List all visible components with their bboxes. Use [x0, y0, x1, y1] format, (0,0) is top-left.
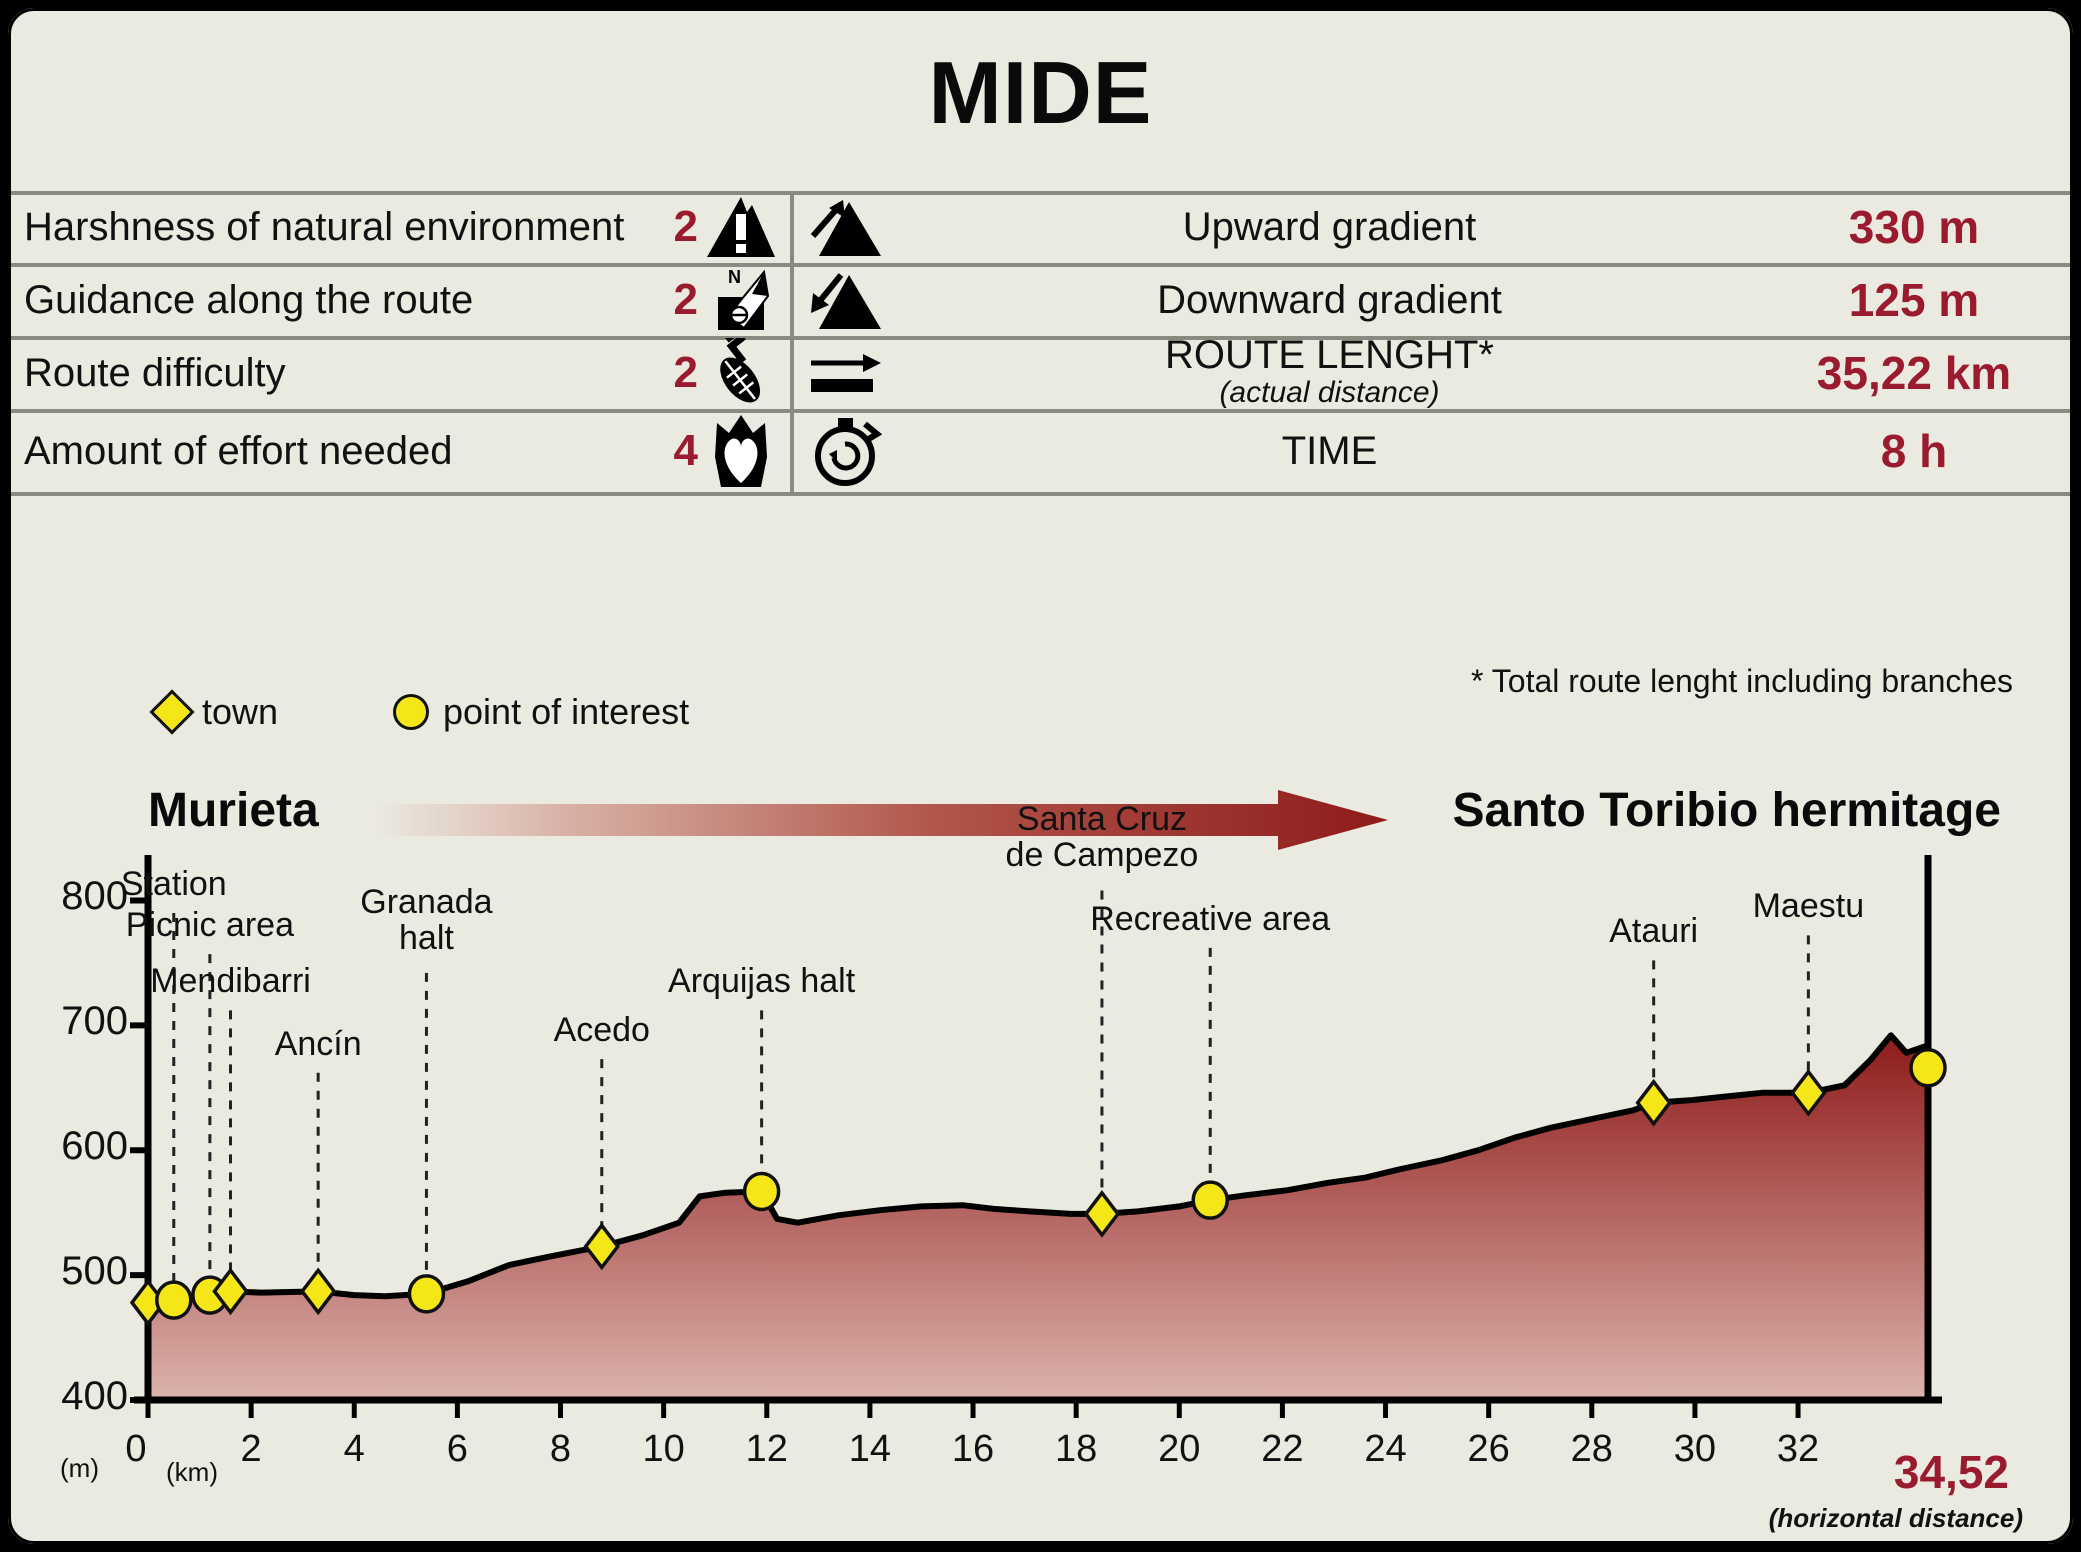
svg-text:N: N: [728, 267, 741, 287]
metric-value: 330 m: [1769, 200, 2059, 254]
difficulty-value: 4: [650, 426, 698, 476]
map-legend: town point of interest: [8, 691, 2073, 751]
difficulty-label: Amount of effort needed: [24, 429, 650, 474]
metric-value: 35,22 km: [1769, 346, 2059, 400]
x-tick-label: 12: [727, 1428, 807, 1471]
heart-icon: [698, 410, 784, 492]
difficulty-label: Route difficulty: [24, 351, 650, 396]
x-tick-label: 32: [1758, 1428, 1838, 1471]
x-tick-label: 0: [96, 1428, 176, 1471]
difficulty-row-route[interactable]: Route difficulty 2: [24, 337, 784, 409]
difficulty-label: Guidance along the route: [24, 278, 650, 323]
legend-label: point of interest: [443, 691, 689, 733]
difficulty-label: Harshness of natural environment: [24, 205, 650, 250]
down-gradient-icon: [804, 264, 890, 336]
y-tick-label: 400: [38, 1374, 128, 1419]
x-axis-caption: (horizontal distance): [1769, 1503, 2023, 1534]
page-title: MIDE: [8, 42, 2073, 144]
x-tick-label: 14: [830, 1428, 910, 1471]
elevation-profile-chart: 400500600700800 024681012141618202224262…: [8, 853, 2073, 1493]
metric-label: Downward gradient: [890, 278, 1769, 323]
up-gradient-icon: [804, 191, 890, 263]
point-label: Acedo: [282, 1013, 922, 1049]
x-tick-label: 6: [417, 1428, 497, 1471]
metric-label: ROUTE LENGHT*: [890, 335, 1769, 375]
y-axis-unit: (m): [60, 1453, 99, 1484]
point-label: Maestu: [1488, 889, 2073, 925]
x-tick-label: 20: [1139, 1428, 1219, 1471]
x-tick-label: 2: [211, 1428, 291, 1471]
poi-marker-icon: [393, 694, 429, 730]
x-tick-label: 8: [521, 1428, 601, 1471]
x-tick-label: 28: [1552, 1428, 1632, 1471]
x-tick-label: 16: [933, 1428, 1013, 1471]
metric-label: Upward gradient: [890, 205, 1769, 250]
distance-icon: [804, 337, 890, 409]
point-label: Granadahalt: [106, 885, 746, 956]
x-tick-label: 10: [624, 1428, 704, 1471]
mide-card: MIDE Harshness of natural environment 2 …: [8, 8, 2073, 1544]
x-axis-unit: (km): [166, 1457, 218, 1488]
y-tick-label: 500: [38, 1249, 128, 1294]
metric-row-time[interactable]: TIME 8 h: [804, 410, 2059, 492]
x-tick-label: 18: [1036, 1428, 1116, 1471]
metric-row-length[interactable]: ROUTE LENGHT* (actual distance) 35,22 km: [804, 337, 2059, 409]
metric-label-group: ROUTE LENGHT* (actual distance): [890, 335, 1769, 411]
harshness-icon: [698, 191, 784, 263]
y-tick-label: 600: [38, 1124, 128, 1169]
metric-value: 125 m: [1769, 273, 2059, 327]
point-label: Santa Cruzde Campezo: [782, 802, 1422, 873]
table-rule: [8, 492, 2073, 496]
metric-row-upward[interactable]: Upward gradient 330 m: [804, 191, 2059, 263]
difficulty-value: 2: [650, 348, 698, 398]
compass-icon: N: [698, 264, 784, 336]
mide-table: Harshness of natural environment 2 Guida…: [8, 191, 2073, 496]
difficulty-row-guidance[interactable]: Guidance along the route 2 N: [24, 264, 784, 336]
x-tick-label: 4: [314, 1428, 394, 1471]
metric-sublabel: (actual distance): [890, 375, 1769, 411]
x-tick-label: 22: [1242, 1428, 1322, 1471]
difficulty-row-harshness[interactable]: Harshness of natural environment 2: [24, 191, 784, 263]
x-axis-end-label: 34,52: [1894, 1445, 2009, 1499]
metric-label: TIME: [890, 429, 1769, 474]
x-tick-label: 26: [1449, 1428, 1529, 1471]
point-label: Arquijas halt: [442, 964, 1082, 1000]
legend-town: town: [156, 691, 278, 733]
difficulty-value: 2: [650, 275, 698, 325]
route-end-label: Santo Toribio hermitage: [1453, 783, 2001, 838]
stopwatch-icon: [804, 410, 890, 492]
x-tick-label: 24: [1346, 1428, 1426, 1471]
town-marker-icon: [149, 689, 194, 734]
legend-poi: point of interest: [393, 691, 689, 733]
difficulty-value: 2: [650, 202, 698, 252]
boot-icon: [698, 337, 784, 409]
metric-value: 8 h: [1769, 424, 2059, 478]
route-start-label: Murieta: [148, 783, 319, 838]
table-divider: [790, 191, 794, 496]
x-tick-label: 30: [1655, 1428, 1735, 1471]
legend-label: town: [202, 691, 278, 733]
difficulty-row-effort[interactable]: Amount of effort needed 4: [24, 410, 784, 492]
metric-row-downward[interactable]: Downward gradient 125 m: [804, 264, 2059, 336]
